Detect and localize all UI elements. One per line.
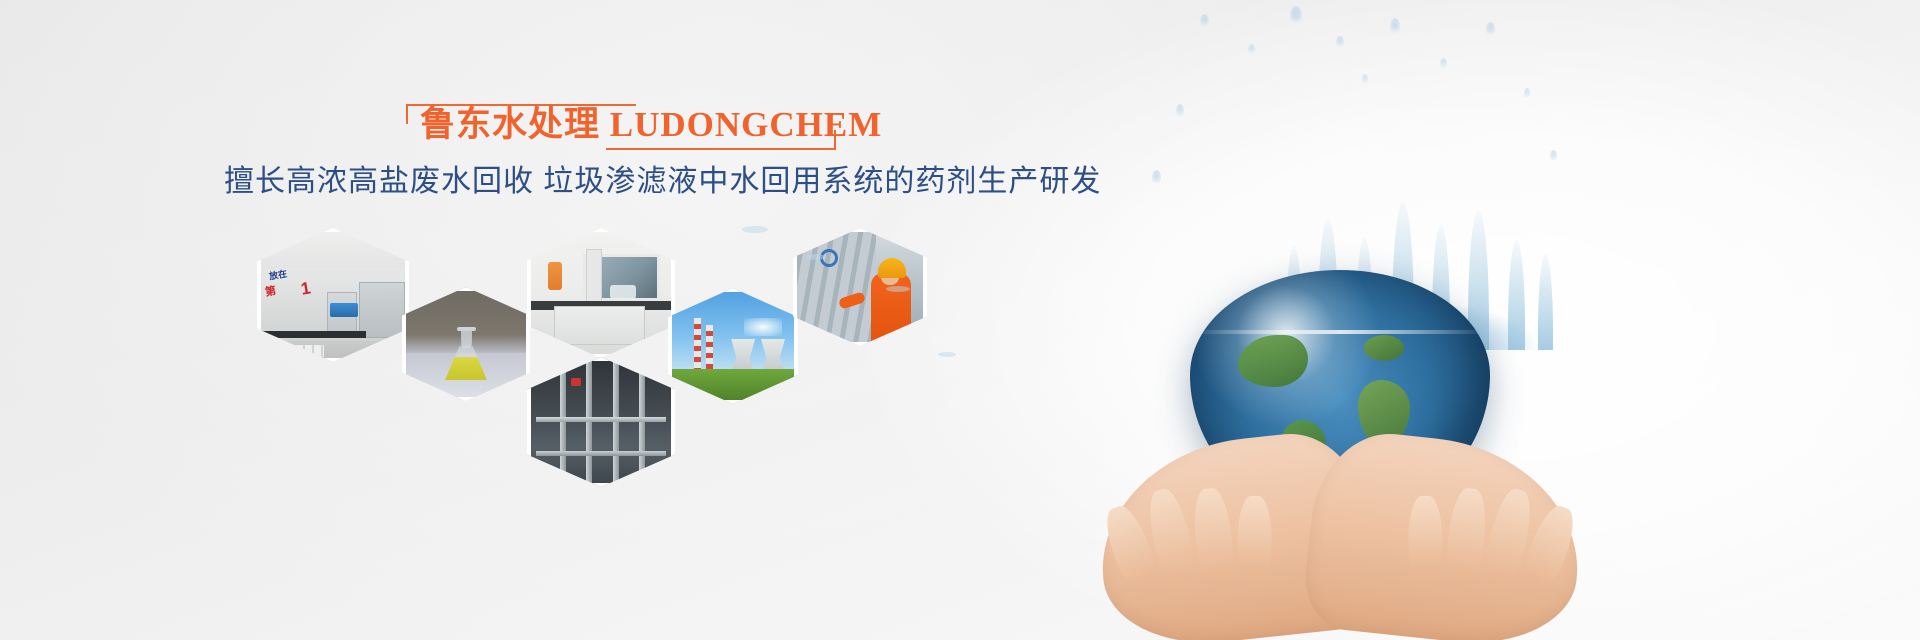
piping-scene	[527, 357, 675, 487]
glassware	[610, 285, 636, 299]
ambient-speck	[806, 254, 826, 260]
water-droplet	[1550, 150, 1557, 160]
water-droplet	[1200, 14, 1209, 27]
lab-room-scene: 放在 第 1	[257, 228, 409, 362]
water-droplet	[1248, 44, 1255, 54]
smokestack	[706, 325, 713, 371]
finger	[1444, 487, 1489, 582]
hands-holding-water-globe	[1020, 0, 1920, 640]
splash-spike	[1538, 254, 1553, 350]
ambient-speck	[938, 352, 956, 357]
hero-banner: 鲁东水处理 LUDONGCHEM 擅长高浓高盐废水回收 垃圾渗滤液中水回用系统的…	[0, 0, 1920, 640]
lab-cabinet	[359, 282, 405, 338]
red-valve	[571, 378, 581, 386]
water-droplet	[1336, 36, 1344, 47]
pipe-horizontal	[536, 451, 666, 456]
blue-equipment	[330, 303, 358, 317]
smoke-plume	[744, 318, 782, 336]
flask-neck	[461, 328, 472, 348]
finger	[1408, 496, 1442, 576]
water-droplet	[1152, 170, 1161, 183]
hexagon-photo-collage: 放在 第 1	[0, 0, 1000, 640]
hex-photo-lab-bench	[527, 228, 675, 358]
water-droplet	[1390, 18, 1400, 33]
water-droplet	[1524, 88, 1530, 97]
ambient-speck	[742, 226, 768, 233]
bottle-row	[278, 345, 324, 357]
water-droplet	[1440, 58, 1447, 68]
flask-scene	[402, 287, 530, 401]
pipe-vertical	[639, 357, 645, 487]
water-surface-line	[1190, 330, 1490, 334]
pipe-vertical	[560, 357, 566, 487]
water-droplet	[1362, 74, 1368, 83]
water-droplet	[1176, 104, 1184, 116]
wall-text-line2: 第	[264, 282, 278, 300]
splash-spike	[1508, 240, 1525, 350]
green-field	[668, 369, 798, 404]
pipe-background	[793, 228, 876, 346]
continent-north-america	[1238, 335, 1308, 387]
finger	[1238, 496, 1272, 576]
hex-photo-power-plant	[668, 288, 798, 404]
floor	[257, 341, 409, 362]
hex-photo-flask-sample	[402, 287, 530, 401]
flask-rim	[457, 327, 476, 331]
orange-equipment	[548, 262, 562, 290]
hex-photo-laboratory-room: 放在 第 1	[257, 228, 409, 362]
ceiling	[257, 228, 409, 268]
lab-bench-scene	[527, 228, 675, 358]
smokestack	[694, 318, 701, 371]
safety-helmet	[878, 258, 906, 278]
wall-text-line1: 放在	[268, 267, 288, 283]
right-hand	[1300, 426, 1589, 640]
pipe-horizontal	[536, 417, 666, 422]
water-droplet	[1486, 22, 1495, 35]
pipe-vertical	[586, 357, 592, 487]
hex-photo-industrial-piping	[527, 357, 675, 487]
lab-bench-top	[257, 331, 366, 338]
water-droplet	[1290, 6, 1302, 23]
pipe-vertical	[613, 357, 619, 487]
wall-text-number: 1	[299, 278, 312, 299]
under-bench-cabinet	[554, 306, 646, 345]
cupped-hands	[1080, 400, 1600, 640]
finger	[1191, 487, 1236, 582]
continent-europe	[1364, 335, 1404, 361]
ambient-speck	[886, 286, 910, 292]
